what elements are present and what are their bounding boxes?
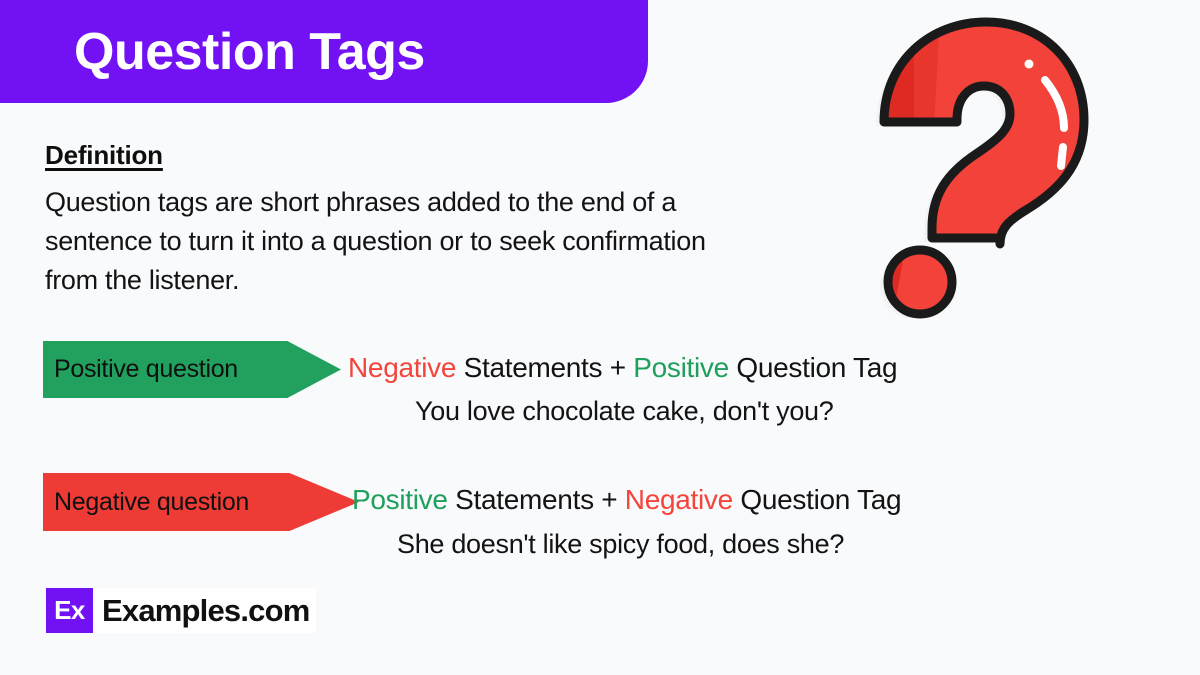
formula-text-statements: Statements bbox=[456, 352, 610, 383]
header-banner: Question Tags bbox=[0, 0, 648, 103]
definition-heading: Definition bbox=[45, 140, 163, 171]
formula-text-question-tag: Question Tag bbox=[729, 352, 897, 383]
formula-positive-question: Negative Statements + Positive Question … bbox=[348, 352, 897, 384]
tag-negative-question: Negative question bbox=[43, 473, 359, 531]
question-mark-icon bbox=[862, 14, 1110, 320]
tag-positive-question-label: Positive question bbox=[54, 355, 238, 384]
formula-operator-plus-2: + bbox=[601, 484, 625, 515]
formula-word-negative-2: Negative bbox=[625, 484, 733, 515]
site-logo[interactable]: Ex Examples.com bbox=[46, 588, 316, 633]
formula-text-statements-2: Statements bbox=[448, 484, 602, 515]
tag-negative-question-label: Negative question bbox=[54, 488, 249, 517]
logo-text: Examples.com bbox=[102, 593, 316, 629]
formula-text-question-tag-2: Question Tag bbox=[733, 484, 901, 515]
tag-positive-question: Positive question bbox=[43, 341, 341, 398]
page-title: Question Tags bbox=[74, 26, 425, 78]
infographic-root: Question Tags Definition Question tags a… bbox=[0, 0, 1200, 675]
formula-word-negative: Negative bbox=[348, 352, 456, 383]
formula-word-positive: Positive bbox=[626, 352, 729, 383]
question-mark-dot bbox=[872, 244, 952, 320]
formula-word-positive-2: Positive bbox=[352, 484, 448, 515]
logo-mark-icon: Ex bbox=[46, 588, 93, 633]
formula-negative-question: Positive Statements + Negative Question … bbox=[352, 484, 901, 516]
definition-body: Question tags are short phrases added to… bbox=[45, 183, 735, 300]
formula-operator-plus: + bbox=[610, 352, 626, 383]
example-negative-question: She doesn't like spicy food, does she? bbox=[397, 529, 844, 560]
example-positive-question: You love chocolate cake, don't you? bbox=[415, 396, 833, 427]
